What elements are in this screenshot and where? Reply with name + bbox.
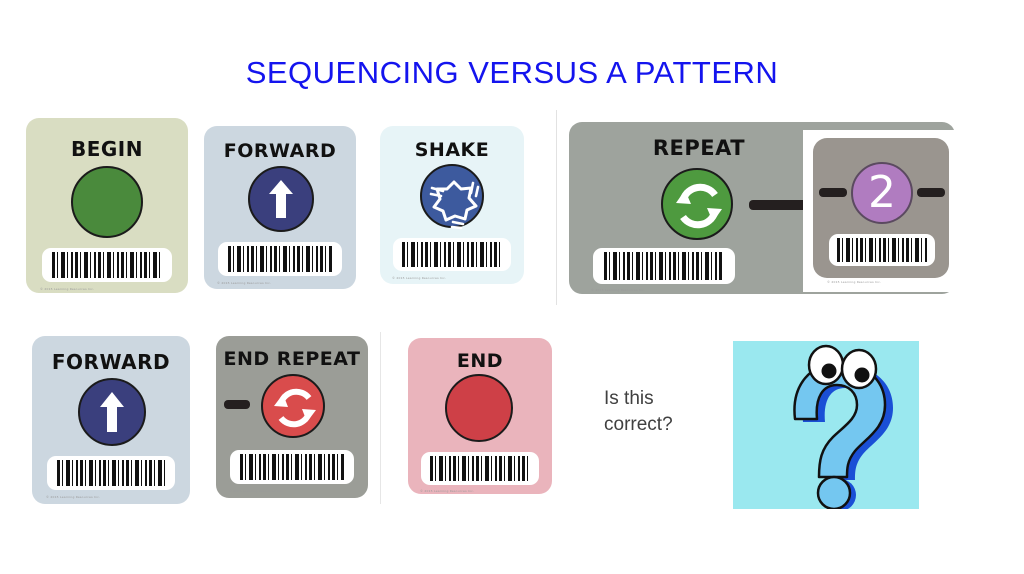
end-circle-icon bbox=[445, 374, 513, 442]
arrow-up-icon bbox=[99, 390, 125, 434]
barcode-bars bbox=[240, 454, 344, 480]
card-label-shake: SHAKE bbox=[380, 139, 524, 161]
barcode-bars bbox=[402, 242, 501, 267]
shake-circle bbox=[420, 164, 484, 228]
card-photo-shake: SHAKE © 2015 Learning Resources Inc. bbox=[378, 124, 526, 296]
barcode-forward-top bbox=[218, 242, 342, 276]
card-caption-number-two: © 2015 Learning Resources Inc. bbox=[827, 280, 881, 284]
barcode-forward-bottom bbox=[47, 456, 175, 490]
card-shake[interactable]: SHAKE © 2015 Learning Resources Inc. bbox=[380, 126, 524, 284]
card-forward-bottom[interactable]: FORWARD © 2015 Learning Resources Inc. bbox=[32, 336, 190, 504]
card-label-forward-bottom: FORWARD bbox=[32, 350, 190, 374]
question-line-1: Is this bbox=[604, 386, 724, 412]
card-caption-end-repeat: © 2015 Learning Resources Inc. bbox=[229, 489, 283, 493]
question-mark-with-eyes-icon bbox=[733, 341, 919, 509]
question-prompt: Is this correct? bbox=[604, 386, 724, 438]
barcode-bars bbox=[57, 460, 165, 486]
end-repeat-connector-dash bbox=[224, 400, 250, 409]
arrow-up-icon bbox=[268, 178, 294, 220]
card-caption-repeat: © 2015 Learning Resources Inc. bbox=[591, 288, 645, 292]
page-title: SEQUENCING VERSUS A PATTERN bbox=[0, 55, 1024, 91]
forward-bottom-circle bbox=[78, 378, 146, 446]
barcode-bars bbox=[837, 238, 926, 262]
card-end-repeat[interactable]: END REPEAT © 2015 Learning Resources Inc… bbox=[216, 336, 368, 498]
shake-star-icon bbox=[422, 166, 486, 230]
repeat-circle bbox=[661, 168, 733, 240]
card-label-begin: BEGIN bbox=[26, 137, 188, 161]
number-two-dash-left bbox=[819, 188, 847, 197]
card-photo-end-repeat: END REPEAT © 2015 Learning Resources Inc… bbox=[212, 332, 381, 504]
card-photo-number-two: 2 © 2015 Learning Resources Inc. bbox=[803, 130, 955, 292]
card-caption-forward-top: © 2015 Learning Resources Inc. bbox=[217, 281, 271, 285]
barcode-end-repeat bbox=[230, 450, 354, 484]
barcode-end bbox=[421, 452, 539, 485]
card-photo-begin: BEGIN © 2015 Learning Resources Inc. bbox=[22, 110, 192, 300]
forward-top-circle bbox=[248, 166, 314, 232]
card-caption-shake: © 2015 Learning Resources Inc. bbox=[392, 276, 446, 280]
question-mark-image bbox=[733, 341, 919, 509]
repeat-arrows-icon bbox=[263, 376, 327, 440]
barcode-shake bbox=[393, 238, 511, 271]
barcode-bars bbox=[430, 456, 529, 481]
card-photo-end: END © 2015 Learning Resources Inc. bbox=[406, 334, 556, 500]
card-label-repeat: REPEAT bbox=[609, 136, 789, 160]
barcode-bars bbox=[604, 252, 723, 279]
card-end[interactable]: END © 2015 Learning Resources Inc. bbox=[408, 338, 552, 494]
card-label-end-repeat: END REPEAT bbox=[216, 348, 368, 370]
card-caption-end: © 2015 Learning Resources Inc. bbox=[420, 489, 474, 493]
card-photo-forward-bottom: FORWARD © 2015 Learning Resources Inc. bbox=[28, 330, 194, 510]
card-number-two[interactable]: 2 bbox=[813, 138, 949, 278]
card-label-forward-top: FORWARD bbox=[204, 140, 356, 162]
barcode-bars bbox=[52, 252, 161, 278]
card-label-end: END bbox=[408, 350, 552, 372]
card-caption-forward-bottom: © 2015 Learning Resources Inc. bbox=[46, 495, 100, 499]
barcode-number-two bbox=[829, 234, 935, 266]
question-line-2: correct? bbox=[604, 412, 724, 438]
card-label-number-two: 2 bbox=[853, 164, 911, 222]
number-two-circle: 2 bbox=[851, 162, 913, 224]
card-photo-repeat: REPEAT © 2015 Learning Resources Inc. 2 bbox=[556, 110, 963, 305]
barcode-repeat bbox=[593, 248, 735, 284]
begin-circle-icon bbox=[71, 166, 143, 238]
card-forward-top[interactable]: FORWARD © 2015 Learning Resources Inc. bbox=[204, 126, 356, 289]
barcode-begin bbox=[42, 248, 172, 282]
card-begin[interactable]: BEGIN © 2015 Learning Resources Inc. bbox=[26, 118, 188, 293]
barcode-bars bbox=[228, 246, 332, 272]
card-caption-begin: © 2015 Learning Resources Inc. bbox=[40, 287, 94, 291]
repeat-arrows-icon bbox=[663, 170, 735, 242]
slide-canvas: SEQUENCING VERSUS A PATTERN BEGIN © 2015… bbox=[0, 0, 1024, 574]
end-repeat-circle bbox=[261, 374, 325, 438]
card-photo-forward-top: FORWARD © 2015 Learning Resources Inc. bbox=[200, 120, 360, 298]
number-two-dash-right bbox=[917, 188, 945, 197]
